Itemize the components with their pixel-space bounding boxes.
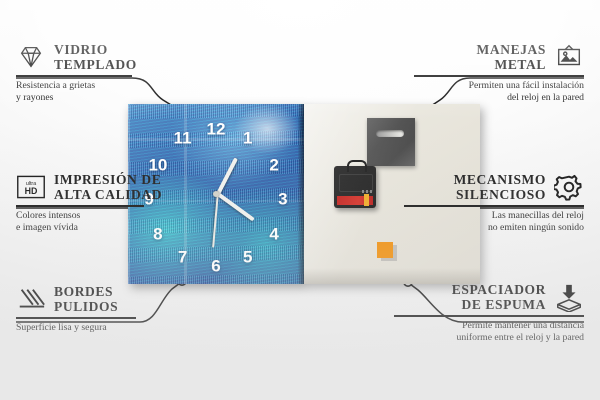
callout-description: Colores intensose imagen vívida	[16, 210, 176, 234]
polished-edges-icon	[16, 284, 46, 314]
callout-mecanismo-silencioso: MECANISMOSILENCIOSO Las manecillas del r…	[404, 172, 584, 234]
clock-numeral: 11	[174, 130, 192, 147]
callout-vidrio-templado: VIDRIOTEMPLADO Resistencia a grietasy ra…	[16, 42, 166, 104]
movement-red-label	[337, 196, 373, 205]
clock-numeral: 12	[207, 121, 226, 138]
clock-numeral: 2	[269, 157, 278, 174]
callout-description: Superficie lisa y segura	[16, 322, 166, 334]
clock-numeral: 3	[278, 191, 287, 208]
callout-rule	[16, 205, 144, 207]
quartz-movement	[334, 166, 376, 208]
callout-description: Permite mantener una distanciauniforme e…	[394, 320, 584, 344]
callout-bordes-pulidos: BORDESPULIDOS Superficie lisa y segura	[16, 284, 166, 334]
callout-rule	[404, 205, 584, 207]
movement-hanging-loop	[347, 160, 367, 172]
foam-spacer-arrow-icon	[554, 282, 584, 312]
callout-description: Las manecillas del relojno emiten ningún…	[404, 210, 584, 234]
infographic-canvas: 12 1 2 3 4 5 6 7 8 9 10 11	[0, 0, 600, 400]
callout-title: MECANISMOSILENCIOSO	[454, 172, 546, 202]
clock-numeral: 4	[269, 225, 278, 242]
callout-impresion-alta-calidad: ultra HD IMPRESIÓN DEALTA CALIDAD Colore…	[16, 172, 176, 234]
callout-title: IMPRESIÓN DEALTA CALIDAD	[54, 172, 162, 202]
callout-manejas-metal: MANEJASMETAL Permiten una fácil instalac…	[414, 42, 584, 104]
gear-icon	[554, 172, 584, 202]
clock-numeral: 6	[211, 258, 220, 275]
foam-spacer	[377, 242, 393, 258]
ultra-hd-icon: ultra HD	[16, 174, 46, 200]
clock-numeral: 5	[243, 249, 252, 266]
diamond-icon	[16, 42, 46, 72]
callout-title: ESPACIADORDE ESPUMA	[452, 282, 546, 312]
callout-description: Resistencia a grietasy rayones	[16, 80, 166, 104]
callout-rule	[16, 75, 132, 77]
metal-hanger-plate	[367, 118, 415, 166]
callout-espaciador-espuma: ESPACIADORDE ESPUMA Permite mantener una…	[394, 282, 584, 344]
glass-glare	[220, 104, 304, 165]
movement-contacts	[362, 190, 372, 193]
clock-numeral: 7	[178, 249, 187, 266]
picture-hanger-icon	[554, 42, 584, 72]
hanger-keyhole-slot	[376, 130, 404, 137]
callout-rule	[16, 317, 136, 319]
callout-rule	[394, 315, 584, 317]
callout-title: MANEJASMETAL	[477, 42, 546, 72]
clock-numeral: 1	[243, 130, 252, 147]
svg-text:HD: HD	[25, 186, 38, 196]
callout-title: BORDESPULIDOS	[54, 284, 118, 314]
clock-center-cap	[213, 191, 219, 197]
callout-description: Permiten una fácil instalacióndel reloj …	[414, 80, 584, 104]
callout-rule	[414, 75, 584, 77]
callout-title: VIDRIOTEMPLADO	[54, 42, 137, 72]
